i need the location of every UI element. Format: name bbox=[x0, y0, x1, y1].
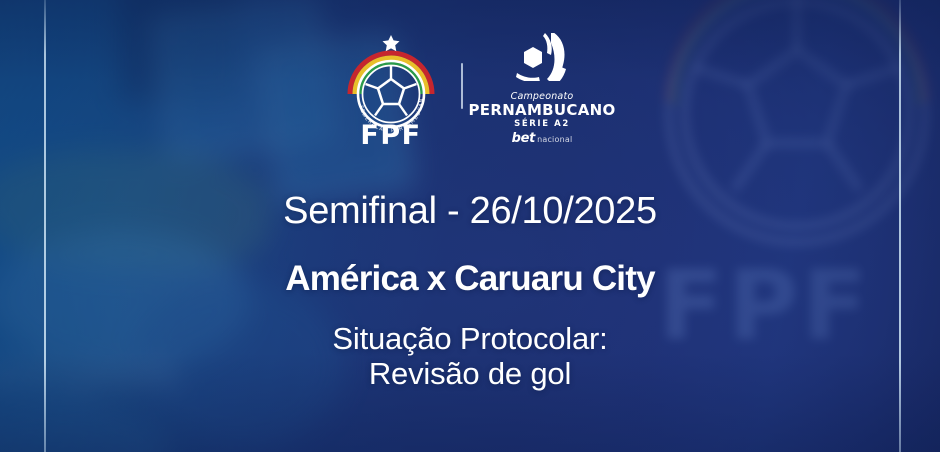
match-status-banner: uhlsport FPF bbox=[0, 0, 940, 452]
campeonato-pernambucano-logo: Campeonato PERNAMBUCANO SÉRIE A2 bet nac… bbox=[487, 31, 597, 149]
fpf-logo: FEDERACAO PERNAMBUCANA DE FUTEBOL FPF bbox=[343, 32, 439, 148]
banner-content: FEDERACAO PERNAMBUCANA DE FUTEBOL FPF bbox=[0, 0, 940, 452]
championship-ball-icon bbox=[511, 31, 573, 89]
protocol-status-value: Revisão de gol bbox=[332, 356, 607, 391]
sponsor-betnacional-logo: bet nacional bbox=[469, 132, 616, 145]
protocol-status: Situação Protocolar: Revisão de gol bbox=[332, 321, 607, 392]
championship-wordmark: Campeonato PERNAMBUCANO SÉRIE A2 bet nac… bbox=[469, 92, 616, 145]
sponsor-nacional-text: nacional bbox=[537, 136, 572, 144]
sponsor-bet-text: bet bbox=[512, 132, 535, 145]
protocol-status-label: Situação Protocolar: bbox=[332, 321, 607, 356]
svg-text:FPF: FPF bbox=[360, 120, 421, 148]
logo-divider bbox=[461, 63, 463, 109]
match-teams-title: América x Caruaru City bbox=[285, 259, 655, 299]
match-stage-date: Semifinal - 26/10/2025 bbox=[283, 190, 657, 233]
championship-series: SÉRIE A2 bbox=[469, 120, 616, 129]
logo-row: FEDERACAO PERNAMBUCANA DE FUTEBOL FPF bbox=[343, 30, 597, 150]
championship-title: PERNAMBUCANO bbox=[469, 103, 616, 118]
